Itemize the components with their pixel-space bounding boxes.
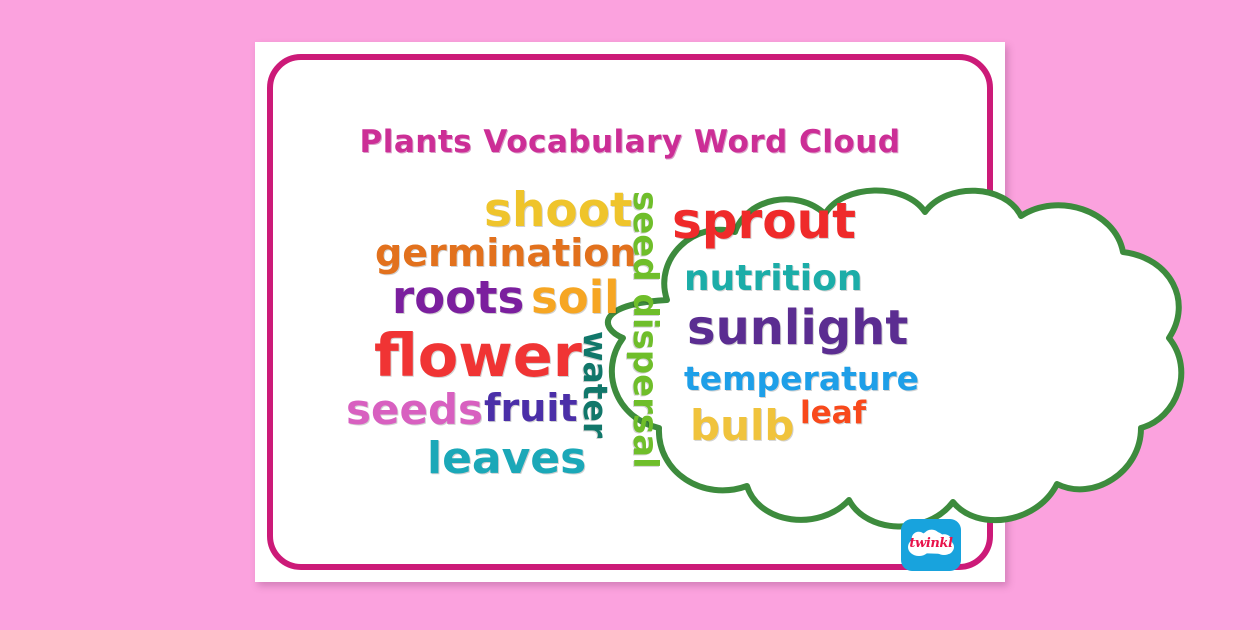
word-bulb[interactable]: bulb [690,405,794,447]
word-fruit[interactable]: fruit [484,389,578,427]
twinkl-wordmark: twinkl [901,536,961,551]
word-seeds[interactable]: seeds [346,389,483,431]
word-leaves[interactable]: leaves [427,437,586,481]
word-water[interactable]: water [579,331,612,438]
word-flower[interactable]: flower [374,326,582,385]
word-sunlight[interactable]: sunlight [687,304,908,352]
page-title: Plants Vocabulary Word Cloud [255,124,1005,160]
word-roots[interactable]: roots [392,275,524,320]
word-germination[interactable]: germination [375,234,636,272]
word-shoot[interactable]: shoot [484,187,632,234]
twinkl-logo[interactable]: twinkl [901,519,961,571]
word-temperature[interactable]: temperature [684,362,919,395]
word-nutrition[interactable]: nutrition [684,261,862,297]
word-seed-dispersal[interactable]: seed dispersal [628,191,662,469]
word-soil[interactable]: soil [531,275,620,320]
word-sprout[interactable]: sprout [672,196,856,246]
word-leaf[interactable]: leaf [800,398,866,429]
